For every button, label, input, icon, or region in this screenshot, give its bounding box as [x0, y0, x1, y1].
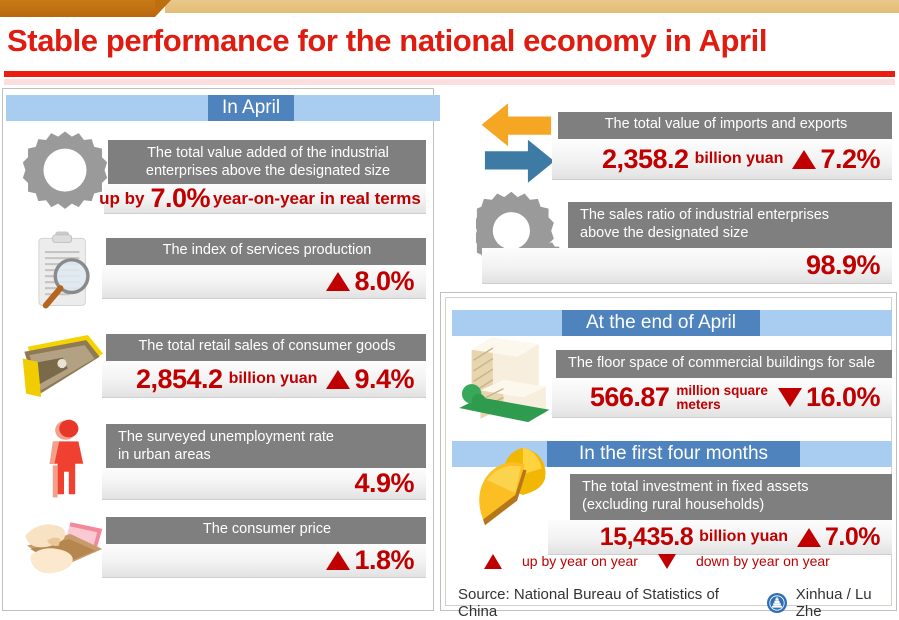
triangle-up-icon [326, 551, 350, 570]
wallet-icon [16, 330, 108, 402]
source-credit: Xinhua / Lu Zhe [796, 586, 899, 620]
stat-value-retail-sales: 2,854.2 billion yuan 9.4% [102, 361, 426, 398]
building-icon [454, 330, 560, 426]
value-unit: million square meters [676, 384, 768, 412]
triangle-up-icon [797, 528, 821, 547]
value-number: 8.0% [354, 266, 414, 297]
stat-title-imports-exports: The total value of imports and exports [558, 112, 892, 139]
legend-triangle-up-icon [484, 554, 502, 569]
gear-icon [22, 128, 108, 214]
value-number: 7.0% [150, 183, 210, 214]
value-unit: billion yuan [229, 370, 318, 388]
stat-title-consumer-price: The consumer price [106, 517, 426, 544]
value-number: 98.9% [806, 250, 880, 281]
triangle-down-icon [778, 388, 802, 407]
value-suffix: year-on-year in real terms [213, 189, 421, 209]
stat-value-consumer-price: 1.8% [102, 544, 426, 578]
value-number: 1.8% [354, 545, 414, 576]
stat-value-industrial-value-added: up by 7.0% year-on-year in real terms [104, 184, 426, 214]
value-change: 9.4% [354, 364, 414, 395]
stat-title-unemployment-rate: The surveyed unemployment rate in urban … [106, 424, 426, 468]
source-text: Source: National Bureau of Statistics of… [458, 586, 755, 620]
stat-title-sales-ratio: The sales ratio of industrial enterprise… [568, 202, 892, 248]
stat-value-sales-ratio: 98.9% [482, 248, 892, 284]
value-change: 7.2% [820, 144, 880, 175]
stat-title-industrial-value-added: The total value added of the industrial … [108, 140, 426, 184]
stat-value-fixed-assets: 15,435.8 billion yuan 7.0% [548, 520, 892, 555]
banner-dark-stripe [0, 0, 155, 17]
triangle-up-icon [326, 272, 350, 291]
stat-value-imports-exports: 2,358.2 billion yuan 7.2% [552, 139, 892, 180]
value-number: 4.9% [354, 468, 414, 499]
triangle-up-icon [326, 370, 350, 389]
value-prefix: up by [99, 189, 144, 209]
title-rule-soft [4, 79, 895, 85]
banner-dark-tip [155, 0, 171, 17]
legend-up-label: up by year on year [522, 553, 638, 569]
stat-value-unemployment-rate: 4.9% [102, 468, 426, 500]
stat-value-floor-space: 566.87 million square meters 16.0% [552, 378, 892, 418]
title-rule [4, 71, 895, 77]
value-number: 2,358.2 [602, 144, 689, 175]
legend-down-label: down by year on year [696, 553, 830, 569]
stat-title-retail-sales: The total retail sales of consumer goods [106, 334, 426, 361]
source-line: Source: National Bureau of Statistics of… [458, 586, 899, 620]
xinhua-logo-icon [767, 593, 787, 613]
value-unit: billion yuan [695, 150, 784, 168]
value-change: 7.0% [825, 523, 880, 552]
page-title: Stable performance for the national econ… [7, 23, 897, 59]
value-number: 15,435.8 [600, 523, 693, 552]
value-change: 16.0% [806, 382, 880, 413]
value-number: 566.87 [590, 382, 670, 413]
triangle-up-icon [792, 150, 816, 169]
section-header-in-april: In April [208, 95, 294, 121]
value-unit: billion yuan [699, 528, 788, 546]
value-number: 2,854.2 [136, 364, 223, 395]
legend-triangle-down-icon [658, 554, 676, 569]
clipboard-magnifier-icon [20, 228, 106, 314]
section-header-first-four-months: In the first four months [547, 441, 800, 467]
section-header-end-of-april: At the end of April [562, 310, 760, 336]
stat-title-fixed-assets: The total investment in fixed assets (ex… [570, 474, 892, 520]
legend: up by year on year down by year on year [478, 553, 844, 569]
exchange-arrows-icon [478, 100, 558, 186]
stat-value-services-production: 8.0% [102, 265, 426, 299]
stat-title-services-production: The index of services production [106, 238, 426, 265]
top-banner [0, 0, 899, 17]
banner-light-stripe [147, 0, 899, 13]
stat-title-floor-space: The floor space of commercial buildings … [556, 350, 892, 378]
hand-money-icon [22, 510, 114, 588]
person-icon [40, 418, 96, 500]
